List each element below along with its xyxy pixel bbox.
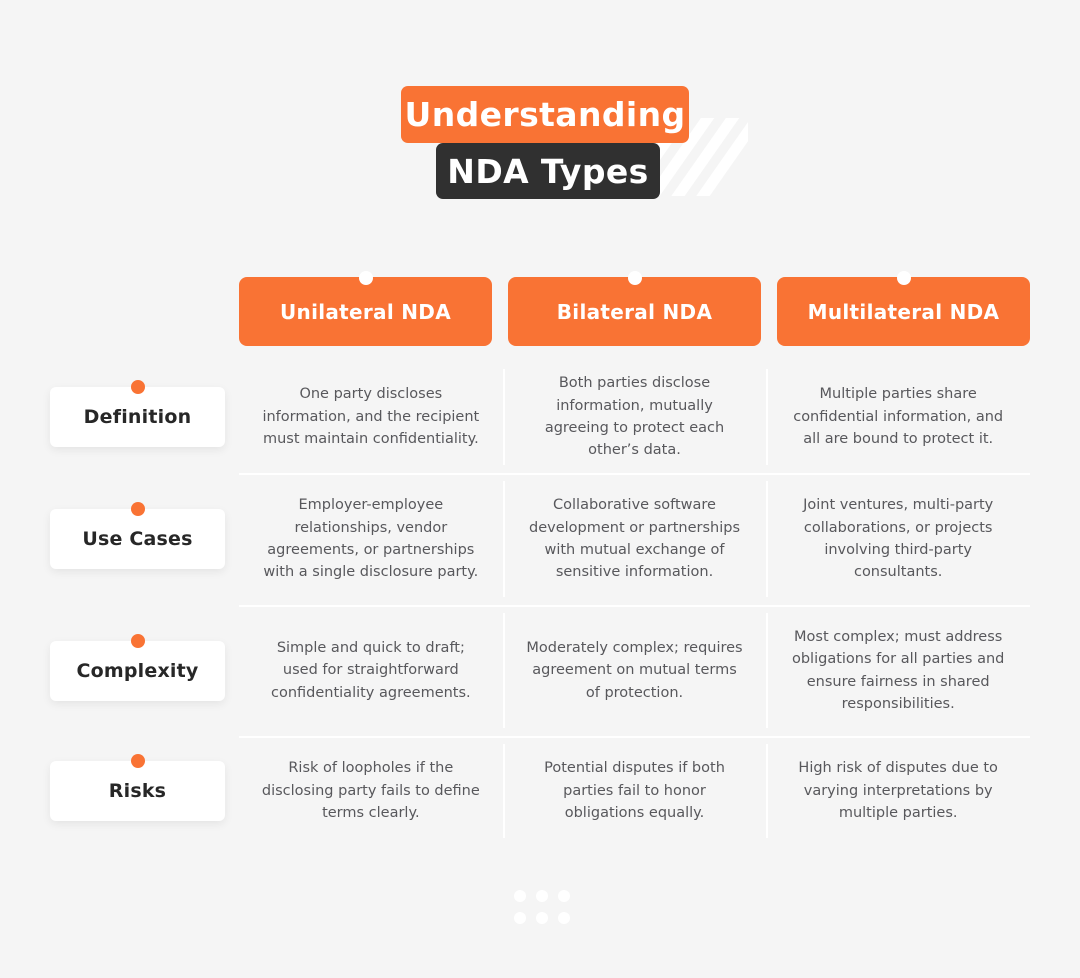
row-label: Use Cases — [82, 528, 192, 550]
row-label-card-risks: Risks — [50, 761, 225, 821]
table-row: Use Cases Employer-employee relationship… — [50, 473, 1030, 605]
row-label-card-definition: Definition — [50, 387, 225, 447]
column-header-label: Bilateral NDA — [557, 300, 712, 324]
dot-icon — [131, 754, 145, 768]
infographic-page: Understanding NDA Types Unilateral NDA B… — [0, 0, 1080, 978]
comparison-table: Unilateral NDA Bilateral NDA Multilatera… — [50, 277, 1030, 846]
cell-complexity-unilateral: Simple and quick to draft; used for stra… — [239, 605, 503, 736]
row-label-card-use-cases: Use Cases — [50, 509, 225, 569]
dot-icon — [131, 380, 145, 394]
row-label-cell: Complexity — [50, 605, 239, 736]
dot-grid-icon — [514, 890, 570, 924]
dot-icon — [514, 890, 526, 902]
dot-icon — [536, 912, 548, 924]
row-cells: One party discloses information, and the… — [239, 361, 1030, 473]
dot-icon — [558, 912, 570, 924]
dot-icon — [131, 502, 145, 516]
dot-icon — [536, 890, 548, 902]
table-row: Complexity Simple and quick to draft; us… — [50, 605, 1030, 736]
column-header-label: Multilateral NDA — [808, 300, 1000, 324]
cell-complexity-multilateral: Most complex; must address obligations f… — [766, 605, 1030, 736]
row-cells: Employer-employee relationships, vendor … — [239, 473, 1030, 605]
cell-definition-multilateral: Multiple parties share confidential info… — [766, 361, 1030, 473]
dot-icon — [628, 271, 642, 285]
cell-complexity-bilateral: Moderately complex; requires agreement o… — [503, 605, 767, 736]
row-label: Complexity — [76, 660, 198, 682]
title-block: Understanding NDA Types — [0, 60, 1080, 210]
dot-icon — [131, 634, 145, 648]
cell-definition-bilateral: Both parties disclose information, mutua… — [503, 361, 767, 473]
title-line-2: NDA Types — [436, 143, 660, 199]
cell-risks-unilateral: Risk of loopholes if the disclosing part… — [239, 736, 503, 846]
column-header-label: Unilateral NDA — [280, 300, 451, 324]
row-cells: Simple and quick to draft; used for stra… — [239, 605, 1030, 736]
dot-icon — [897, 271, 911, 285]
row-label-cell: Use Cases — [50, 473, 239, 605]
column-header-unilateral: Unilateral NDA — [239, 277, 492, 346]
dot-icon — [359, 271, 373, 285]
row-label: Risks — [109, 780, 166, 802]
table-body: Definition One party discloses informati… — [50, 361, 1030, 846]
dot-icon — [514, 912, 526, 924]
cell-use-cases-bilateral: Collaborative software development or pa… — [503, 473, 767, 605]
row-cells: Risk of loopholes if the disclosing part… — [239, 736, 1030, 846]
column-header-bilateral: Bilateral NDA — [508, 277, 761, 346]
cell-risks-multilateral: High risk of disputes due to varying int… — [766, 736, 1030, 846]
row-label: Definition — [84, 406, 192, 428]
cell-use-cases-multilateral: Joint ventures, multi-party collaboratio… — [766, 473, 1030, 605]
row-label-cell: Risks — [50, 736, 239, 846]
cell-definition-unilateral: One party discloses information, and the… — [239, 361, 503, 473]
column-header-multilateral: Multilateral NDA — [777, 277, 1030, 346]
cell-risks-bilateral: Potential disputes if both parties fail … — [503, 736, 767, 846]
dot-icon — [558, 890, 570, 902]
table-row: Definition One party discloses informati… — [50, 361, 1030, 473]
table-row: Risks Risk of loopholes if the disclosin… — [50, 736, 1030, 846]
cell-use-cases-unilateral: Employer-employee relationships, vendor … — [239, 473, 503, 605]
column-header-row: Unilateral NDA Bilateral NDA Multilatera… — [239, 277, 1030, 346]
row-label-card-complexity: Complexity — [50, 641, 225, 701]
title-line-1: Understanding — [401, 86, 689, 143]
row-label-cell: Definition — [50, 361, 239, 473]
